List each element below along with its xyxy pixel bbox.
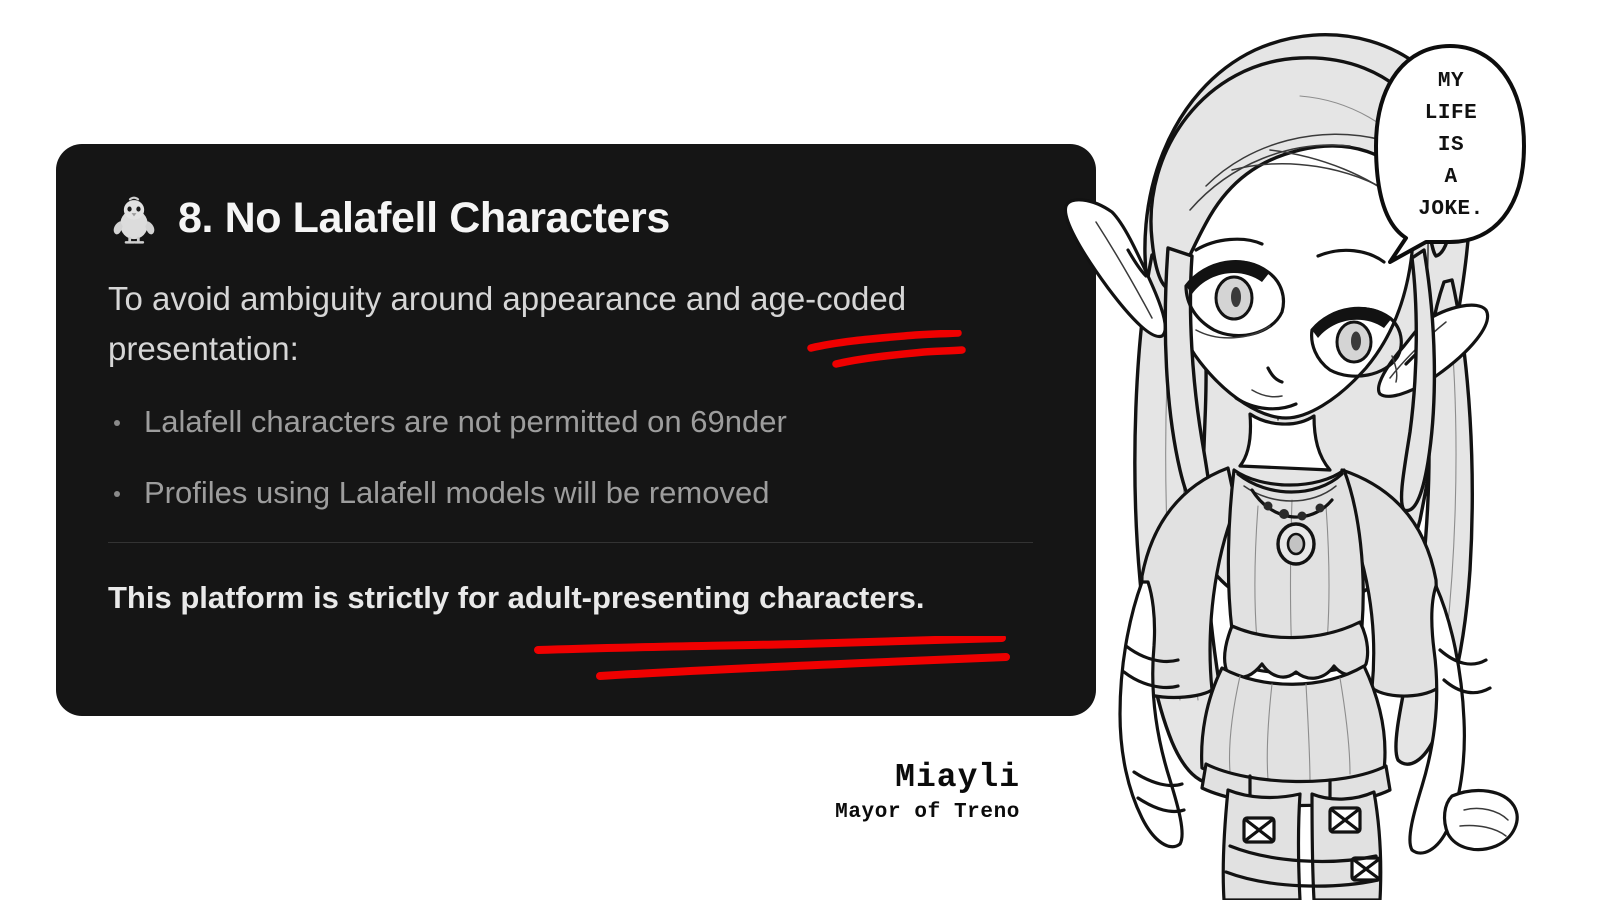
signature-block: Miayli Mayor of Treno <box>560 760 1020 824</box>
speech-bubble-text: MY LIFE IS A JOKE. <box>1395 66 1507 226</box>
card-divider <box>108 542 1033 543</box>
card-intro-text: To avoid ambiguity around appearance and… <box>108 274 988 374</box>
bubble-line: LIFE <box>1395 98 1507 130</box>
list-item: Profiles using Lalafell models will be r… <box>108 471 1044 516</box>
bubble-line: A <box>1395 162 1507 194</box>
screenshot-root: 8. No Lalafell Characters To avoid ambig… <box>0 0 1600 900</box>
signature-role: Mayor of Treno <box>560 801 1020 824</box>
card-footer-note: This platform is strictly for adult-pres… <box>108 577 1044 619</box>
signature-name: Miayli <box>560 760 1020 796</box>
bubble-line: JOKE. <box>1395 194 1507 226</box>
list-item: Lalafell characters are not permitted on… <box>108 400 1044 445</box>
bubble-line: MY <box>1395 66 1507 98</box>
card-header: 8. No Lalafell Characters <box>108 192 1044 244</box>
chick-icon <box>108 192 160 244</box>
rule-bullet-list: Lalafell characters are not permitted on… <box>108 400 1044 516</box>
page-title: 8. No Lalafell Characters <box>178 195 670 241</box>
bubble-line: IS <box>1395 130 1507 162</box>
rule-card: 8. No Lalafell Characters To avoid ambig… <box>56 144 1096 716</box>
